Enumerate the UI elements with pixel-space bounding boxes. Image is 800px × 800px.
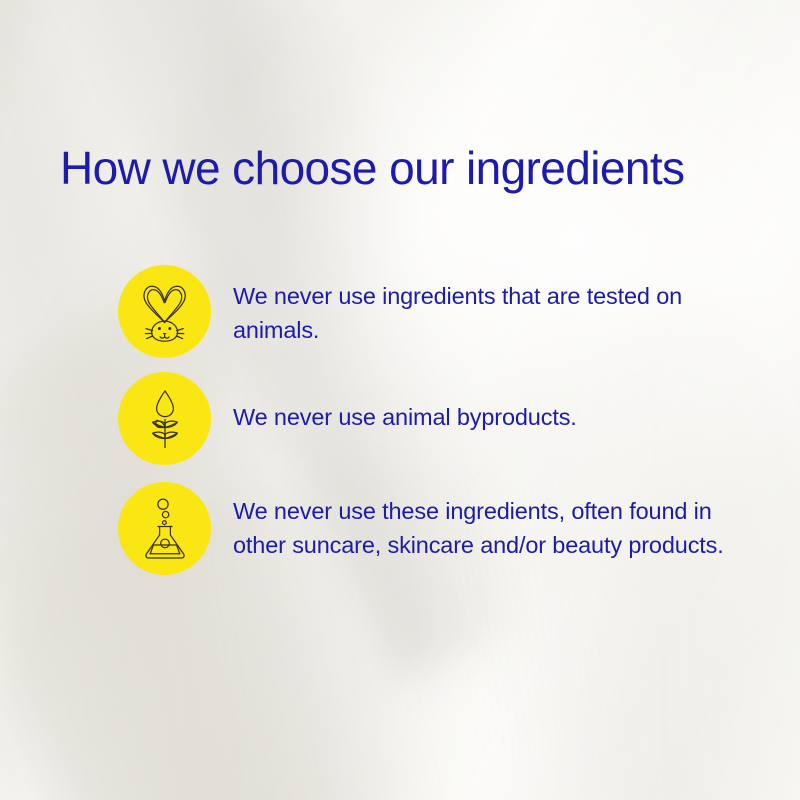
- list-item-label: We never use ingredients that are tested…: [233, 279, 733, 347]
- claim-icon-badge: [118, 482, 211, 575]
- list-item-label: We never use these ingredients, often fo…: [233, 494, 733, 562]
- claim-icon-badge: [118, 265, 211, 358]
- ingredient-principles-panel: How we choose our ingredients: [0, 0, 800, 800]
- plant-sprig-droplet-icon: [139, 388, 191, 450]
- bunny-heart-ears-icon: [136, 281, 194, 343]
- claim-icon-badge: [118, 372, 211, 465]
- page-title: How we choose our ingredients: [60, 143, 684, 194]
- erlenmeyer-flask-bubbles-icon: [138, 497, 192, 561]
- list-item-label: We never use animal byproducts.: [233, 400, 733, 434]
